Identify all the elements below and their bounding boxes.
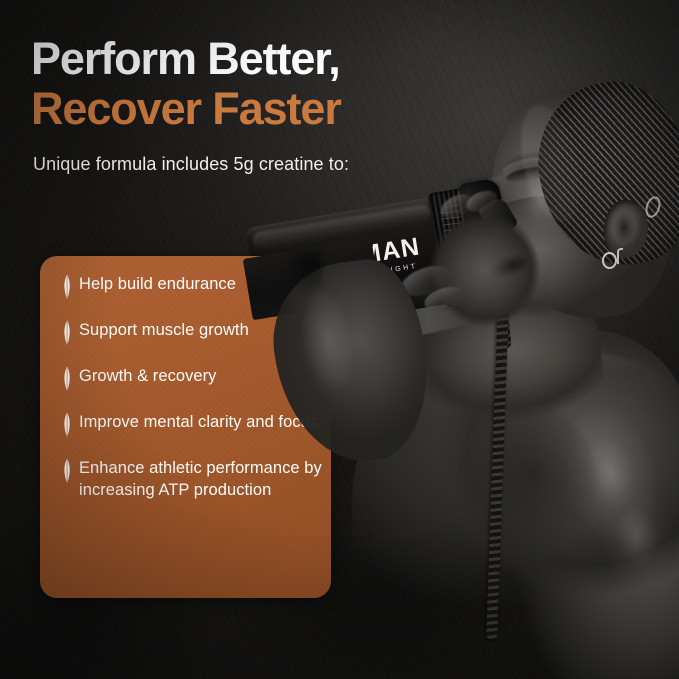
ad-creative: BRDMAN TAKE FLIGHT Perform Better, Recov… [0, 0, 679, 679]
vignette-overlay [0, 0, 679, 679]
